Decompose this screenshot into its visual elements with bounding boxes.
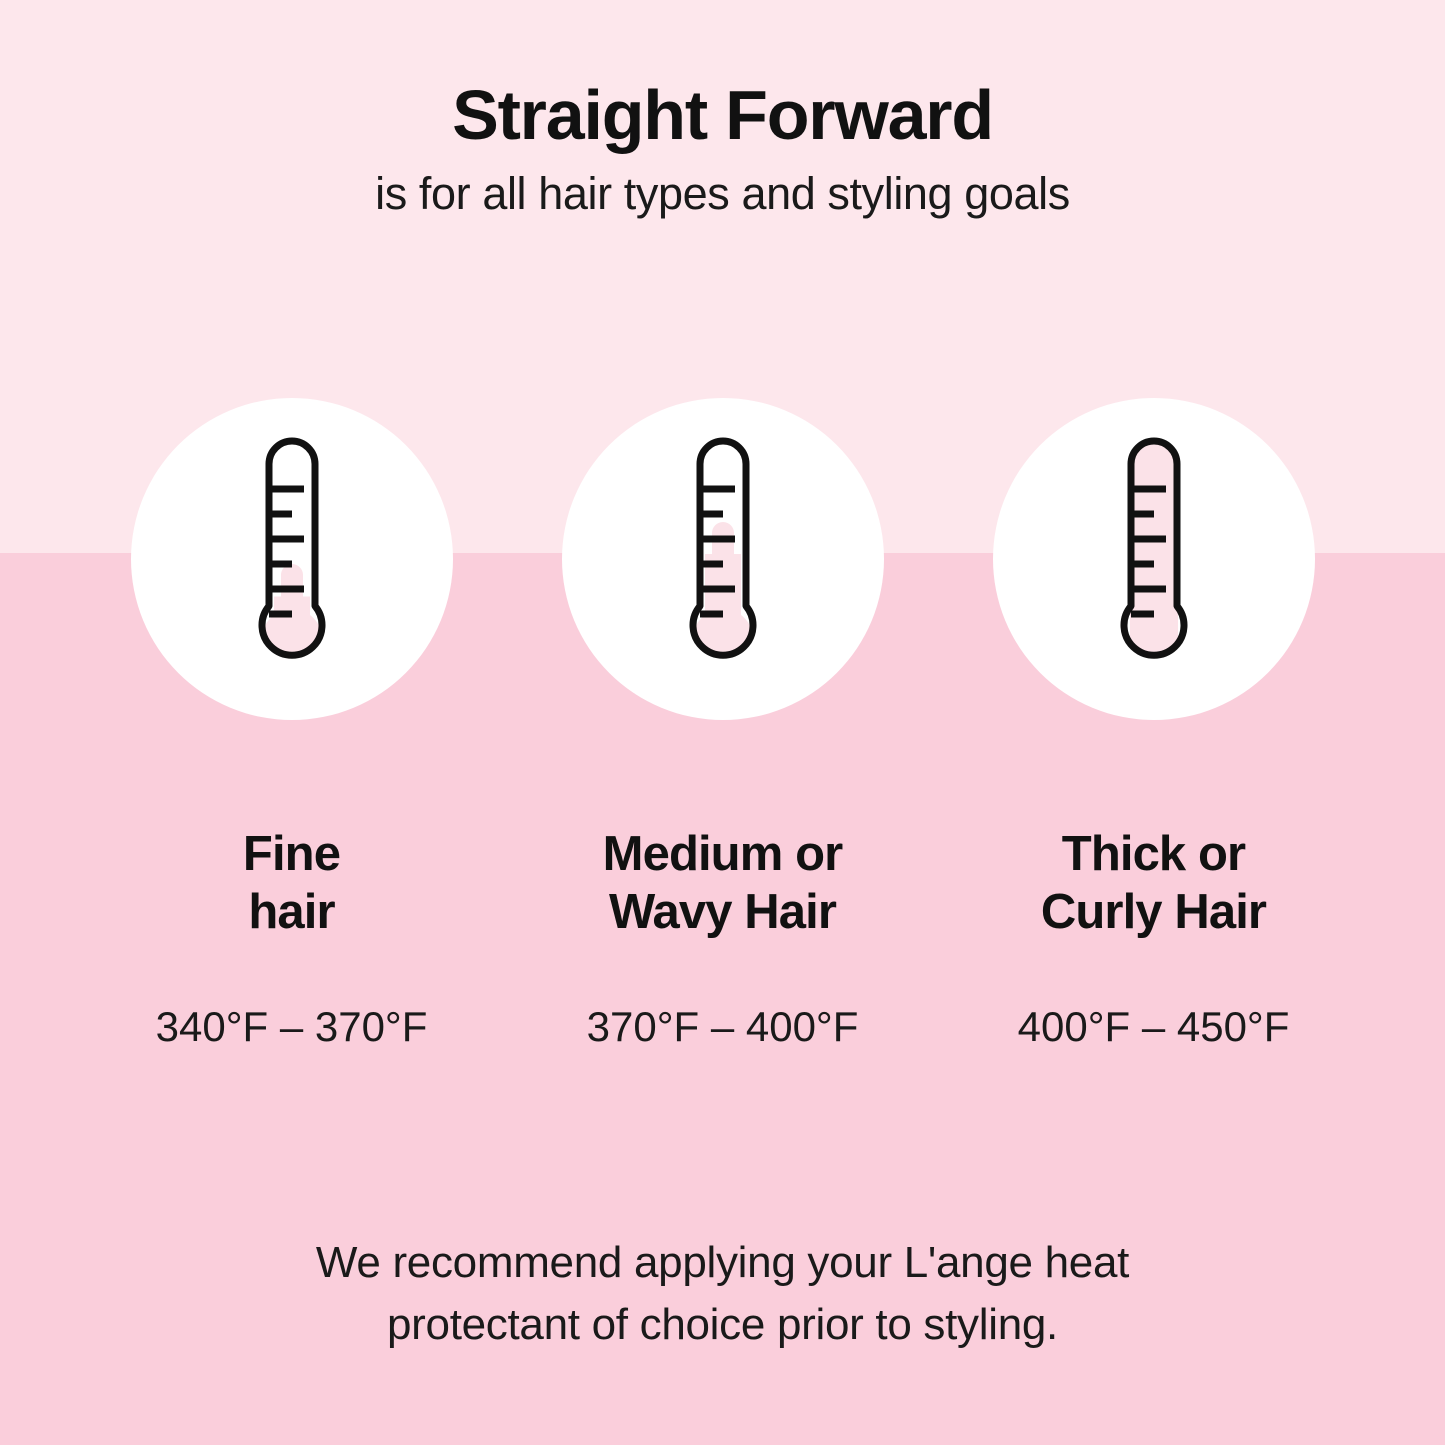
- header: Straight Forward is for all hair types a…: [0, 78, 1445, 219]
- thermometer-icon: [232, 434, 352, 684]
- hair-type-column-thick: Thick or Curly Hair 400°F – 450°F: [938, 398, 1369, 1052]
- column-heading: Medium or Wavy Hair: [603, 720, 843, 942]
- column-heading: Thick or Curly Hair: [1041, 720, 1266, 942]
- page-title: Straight Forward: [0, 78, 1445, 154]
- icon-circle: [993, 398, 1315, 720]
- icon-circle: [562, 398, 884, 720]
- column-heading: Fine hair: [243, 720, 340, 942]
- footer-note: We recommend applying your L'ange heat p…: [0, 1232, 1445, 1357]
- page-subtitle: is for all hair types and styling goals: [0, 168, 1445, 220]
- thermometer-icon: [663, 434, 783, 684]
- hair-type-column-fine: Fine hair 340°F – 370°F: [76, 398, 507, 1052]
- footer: We recommend applying your L'ange heat p…: [0, 1232, 1445, 1357]
- column-temperature-range: 340°F – 370°F: [156, 942, 428, 1052]
- hair-type-column-medium: Medium or Wavy Hair 370°F – 400°F: [507, 398, 938, 1052]
- column-temperature-range: 400°F – 450°F: [1018, 942, 1290, 1052]
- thermometer-icon: [1094, 434, 1214, 684]
- column-temperature-range: 370°F – 400°F: [587, 942, 859, 1052]
- hair-type-columns: Fine hair 340°F – 370°F: [0, 398, 1445, 1052]
- icon-circle: [131, 398, 453, 720]
- infographic-root: Straight Forward is for all hair types a…: [0, 0, 1445, 1445]
